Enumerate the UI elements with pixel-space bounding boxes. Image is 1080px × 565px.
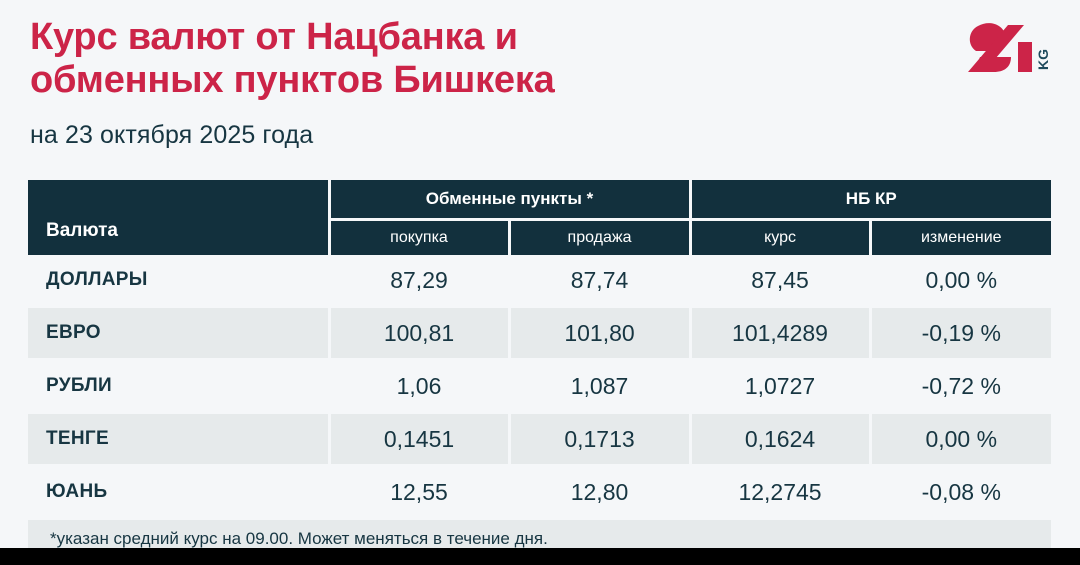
- cell-buy: 12,55: [329, 466, 509, 519]
- logo-kg-text: KG: [1035, 49, 1051, 70]
- cell-sell: 1,087: [509, 360, 690, 413]
- cell-currency: ДОЛЛАРЫ: [28, 255, 329, 307]
- table-row: РУБЛИ 1,06 1,087 1,0727 -0,72 %: [28, 360, 1051, 413]
- cell-change: 0,00 %: [870, 255, 1051, 307]
- logo-mark: KG: [964, 18, 1056, 80]
- cell-currency: ЕВРО: [28, 307, 329, 360]
- cell-buy: 100,81: [329, 307, 509, 360]
- infographic-page: Курс валют от Нацбанка и обменных пункто…: [0, 0, 1080, 565]
- header-currency: Валюта: [28, 180, 329, 255]
- header-block: Курс валют от Нацбанка и обменных пункто…: [30, 16, 950, 150]
- table-row: ТЕНГЕ 0,1451 0,1713 0,1624 0,00 %: [28, 413, 1051, 466]
- header-group-exchange-points: Обменные пункты *: [329, 180, 690, 219]
- cell-sell: 12,80: [509, 466, 690, 519]
- cell-change: -0,19 %: [870, 307, 1051, 360]
- cell-rate: 87,45: [690, 255, 870, 307]
- cell-buy: 0,1451: [329, 413, 509, 466]
- header-sub-rate: курс: [690, 219, 870, 255]
- table-header: Валюта Обменные пункты * НБ КР покупка п…: [28, 180, 1051, 255]
- header-sub-buy: покупка: [329, 219, 509, 255]
- cell-rate: 12,2745: [690, 466, 870, 519]
- cell-currency: ТЕНГЕ: [28, 413, 329, 466]
- cell-change: -0,08 %: [870, 466, 1051, 519]
- 24kg-logo: KG: [964, 18, 1056, 80]
- table-row: ЕВРО 100,81 101,80 101,4289 -0,19 %: [28, 307, 1051, 360]
- bottom-bar: [0, 548, 1080, 565]
- cell-sell: 101,80: [509, 307, 690, 360]
- cell-sell: 0,1713: [509, 413, 690, 466]
- cell-currency: ЮАНЬ: [28, 466, 329, 519]
- page-title: Курс валют от Нацбанка и обменных пункто…: [30, 16, 950, 103]
- table-header-group-row: Валюта Обменные пункты * НБ КР: [28, 180, 1051, 219]
- cell-sell: 87,74: [509, 255, 690, 307]
- table-body: ДОЛЛАРЫ 87,29 87,74 87,45 0,00 % ЕВРО 10…: [28, 255, 1051, 519]
- table-row: ДОЛЛАРЫ 87,29 87,74 87,45 0,00 %: [28, 255, 1051, 307]
- cell-buy: 1,06: [329, 360, 509, 413]
- cell-rate: 1,0727: [690, 360, 870, 413]
- header-group-nbkr: НБ КР: [690, 180, 1051, 219]
- header-sub-change: изменение: [870, 219, 1051, 255]
- page-subtitle: на 23 октября 2025 года: [30, 121, 950, 150]
- currency-rates-table: Валюта Обменные пункты * НБ КР покупка п…: [28, 180, 1051, 559]
- cell-change: -0,72 %: [870, 360, 1051, 413]
- table-row: ЮАНЬ 12,55 12,80 12,2745 -0,08 %: [28, 466, 1051, 519]
- cell-rate: 0,1624: [690, 413, 870, 466]
- cell-currency: РУБЛИ: [28, 360, 329, 413]
- cell-buy: 87,29: [329, 255, 509, 307]
- cell-rate: 101,4289: [690, 307, 870, 360]
- header-sub-sell: продажа: [509, 219, 690, 255]
- rates-table-container: Валюта Обменные пункты * НБ КР покупка п…: [28, 180, 1051, 559]
- cell-change: 0,00 %: [870, 413, 1051, 466]
